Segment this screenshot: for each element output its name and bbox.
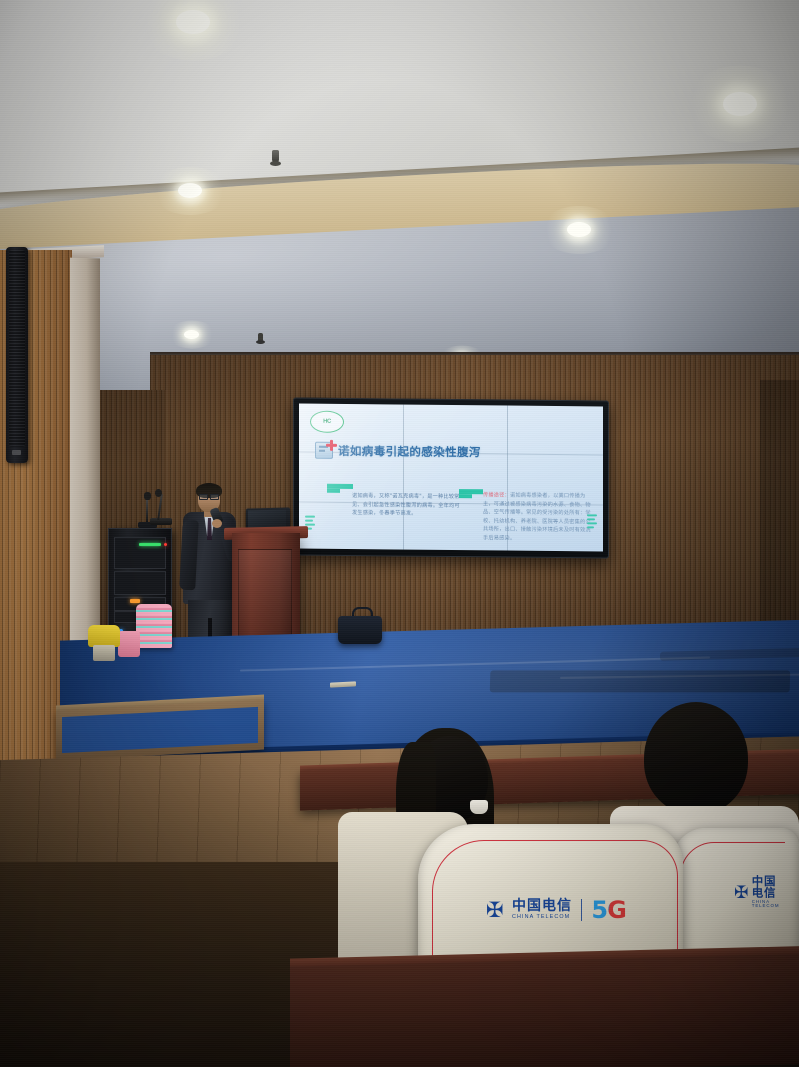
rack-status-led (164, 543, 167, 546)
logo-divider (581, 899, 582, 921)
audience-head (644, 702, 748, 814)
glasses-icon (199, 494, 219, 498)
column-loudspeaker (6, 247, 28, 463)
table-microphone-head-icon (155, 489, 162, 497)
conference-hall-photo: HC 诺如病毒引起的感染性腹泻 诺如病毒，又称"诺瓦克病毒"，是一种比较常见、会… (0, 0, 799, 1067)
slide-body-left: 诺如病毒，又称"诺瓦克病毒"，是一种比较常见、会引起急性感染性腹泻的病毒。全年均… (352, 492, 464, 519)
bench-row-2 (290, 953, 799, 1067)
table-microphone-base (150, 518, 172, 525)
led-video-wall[interactable]: HC 诺如病毒引起的感染性腹泻 诺如病毒，又称"诺瓦克病毒"，是一种比较常见、会… (293, 397, 609, 558)
brand-name-en: CHINA TELECOM (512, 915, 572, 920)
ceiling-downlight-icon (723, 92, 757, 116)
institution-logo: HC (310, 411, 344, 433)
china-telecom-logo-center: ✠ 中国电信 CHINA TELECOM 5G (486, 898, 626, 922)
slide-body-right-text: 诺如病毒感染者，以粪口传播为主，可通过被感染病毒污染的水源、食物、物品、空气传播… (483, 493, 591, 542)
black-laptop-bag (338, 616, 382, 644)
accent-bracket-left (327, 484, 353, 489)
speaker-grill (9, 250, 25, 447)
medical-cross-icon (326, 440, 337, 451)
sprinkler-head-icon (272, 150, 279, 163)
rack-slot (114, 571, 166, 595)
podium-front-panel (238, 549, 292, 637)
leaf-decoration-icon (587, 514, 599, 530)
document-icon (315, 442, 333, 459)
face-mask-icon (470, 800, 488, 814)
brand-name-cn: 中国电信 (512, 899, 572, 913)
brand-name-cn: 中国电信 (752, 876, 788, 899)
rack-status-led (139, 543, 161, 546)
slide-title-row: 诺如病毒引起的感染性腹泻 (315, 442, 481, 461)
ceiling-downlight-icon (184, 330, 199, 339)
china-telecom-wordmark: 中国电信 CHINA TELECOM (752, 876, 788, 909)
china-telecom-wordmark: 中国电信 CHINA TELECOM (512, 899, 572, 920)
slide-body-right-highlight: 传播途径： (483, 492, 510, 498)
slide-title: 诺如病毒引起的感染性腹泻 (338, 442, 481, 459)
rack-status-led (130, 599, 140, 603)
speaker-badge (12, 450, 21, 455)
ceiling-downlight-icon (176, 10, 210, 34)
sprinkler-head-icon (258, 333, 263, 342)
rack-slot (114, 537, 166, 569)
presenter-hand (212, 519, 222, 528)
pink-stacked-stools (136, 604, 172, 648)
brand-name-en: CHINA TELECOM (752, 901, 788, 910)
china-telecom-logo-right: ✠ 中国电信 CHINA TELECOM (734, 876, 787, 909)
china-telecom-mark-icon: ✠ (734, 885, 748, 901)
slide-display: HC 诺如病毒引起的感染性腹泻 诺如病毒，又称"诺瓦克病毒"，是一种比较常见、会… (299, 404, 603, 552)
yellow-round-stool (88, 625, 120, 647)
slide-body-right: 传播途径：诺如病毒感染者，以粪口传播为主，可通过被感染病毒污染的水源、食物、物品… (483, 491, 593, 543)
institution-logo-text: HC (323, 419, 331, 425)
pink-step-stool (118, 631, 140, 657)
gooseneck-microphone-icon (146, 498, 148, 524)
ceiling-downlight-icon (178, 183, 202, 198)
ceiling-downlight-icon (567, 222, 591, 237)
5g-badge: 5G (591, 898, 625, 922)
china-telecom-mark-icon: ✠ (486, 900, 508, 920)
